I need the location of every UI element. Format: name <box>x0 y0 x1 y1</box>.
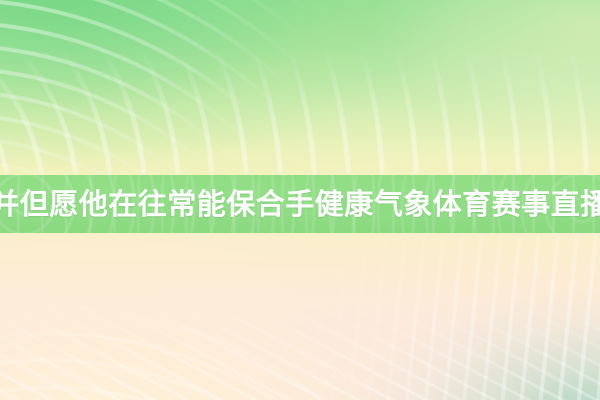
title-band: 并但愿他在往常能保合手健康气象体育赛事直播 <box>0 175 600 233</box>
banner-image: 并但愿他在往常能保合手健康气象体育赛事直播 <box>0 0 600 400</box>
banner-title-text: 并但愿他在往常能保合手健康气象体育赛事直播 <box>0 175 600 233</box>
